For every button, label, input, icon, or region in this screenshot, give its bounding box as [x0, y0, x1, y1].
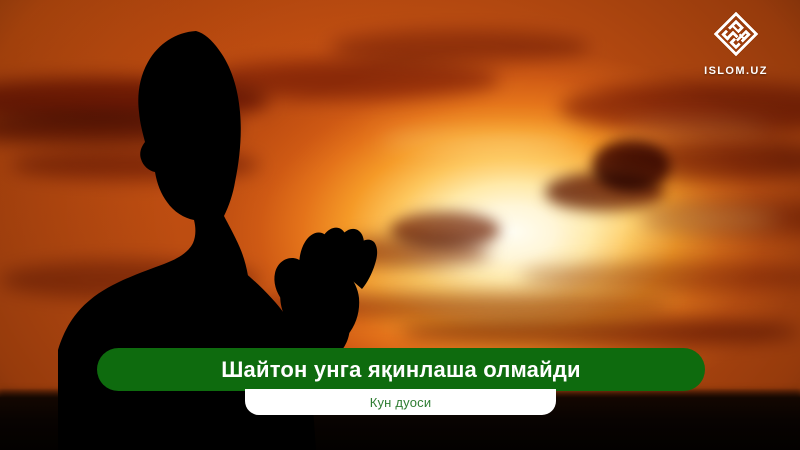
sunset-dua-card: ISLOM.UZ Шайтон унга яқинлаша олмайди Ку…: [0, 0, 800, 450]
title-banner: Шайтон унга яқинлаша олмайди: [97, 348, 705, 391]
brand-logo-block[interactable]: ISLOM.UZ: [688, 6, 784, 77]
subtitle-banner: Кун дуоси: [245, 389, 556, 415]
brand-wordmark: ISLOM.UZ: [688, 66, 784, 77]
islom-uz-kufic-diamond-logo-icon[interactable]: [708, 6, 764, 62]
title-banner-text: Шайтон унга яқинлаша олмайди: [221, 359, 580, 381]
subtitle-banner-text: Кун дуоси: [370, 396, 432, 409]
